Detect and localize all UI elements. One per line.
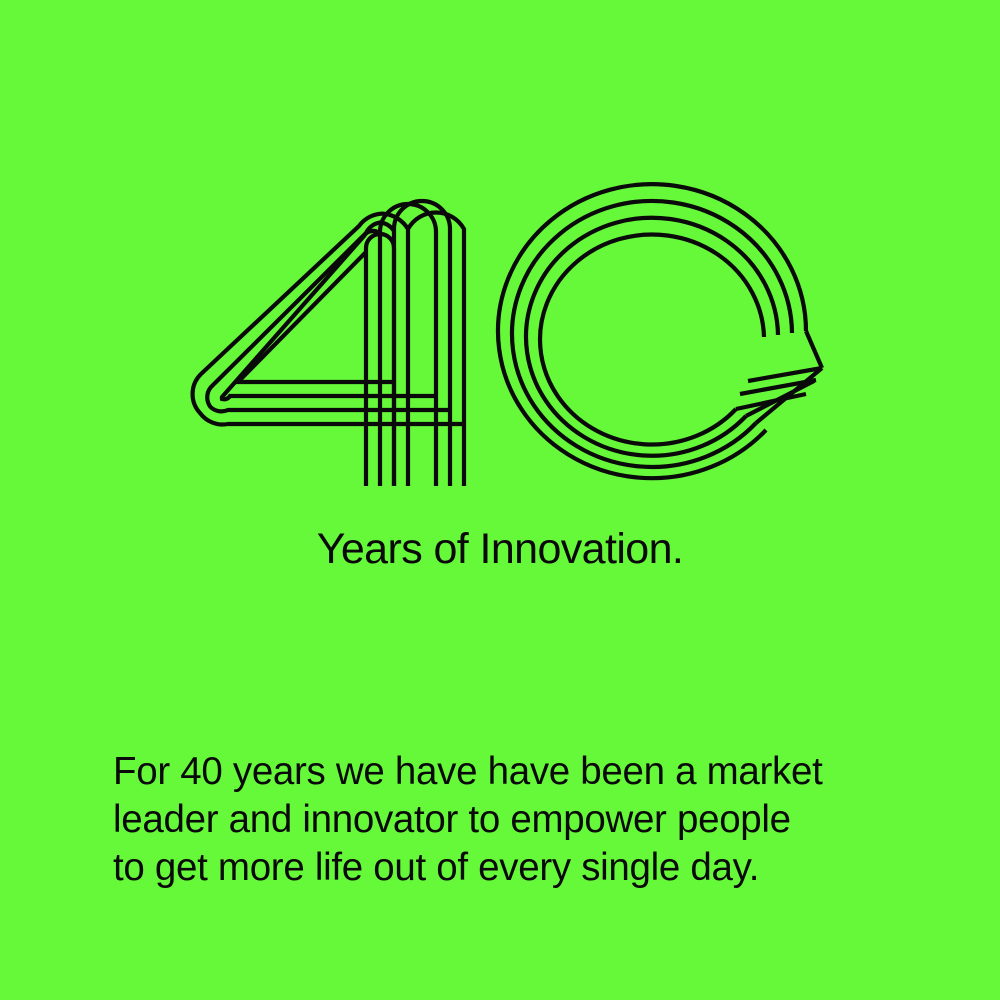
- logo-svg: [0, 0, 1000, 520]
- zero-tail-1: [806, 331, 822, 368]
- four-stripe-1-diagonal: [193, 214, 464, 425]
- zero-ring-1: [498, 184, 806, 478]
- zero-ring-3: [526, 218, 778, 456]
- four-stripe-2: [394, 201, 450, 486]
- anniversary-poster: Years of Innovation. For 40 years we hav…: [0, 0, 1000, 1000]
- anniversary-logo: [0, 0, 1000, 520]
- zero-ring-2: [512, 201, 792, 467]
- zero-ring-4: [540, 235, 764, 445]
- numeral-four: [193, 201, 464, 486]
- zero-tail-4: [736, 394, 806, 409]
- body-copy: For 40 years we have have been a market …: [113, 748, 903, 892]
- body-copy-line-3: to get more life out of every single day…: [113, 844, 903, 892]
- body-copy-line-2: leader and innovator to empower people: [113, 796, 903, 844]
- body-copy-line-1: For 40 years we have have been a market: [113, 748, 903, 796]
- headline: Years of Innovation.: [0, 525, 1000, 574]
- numeral-zero: [498, 184, 822, 478]
